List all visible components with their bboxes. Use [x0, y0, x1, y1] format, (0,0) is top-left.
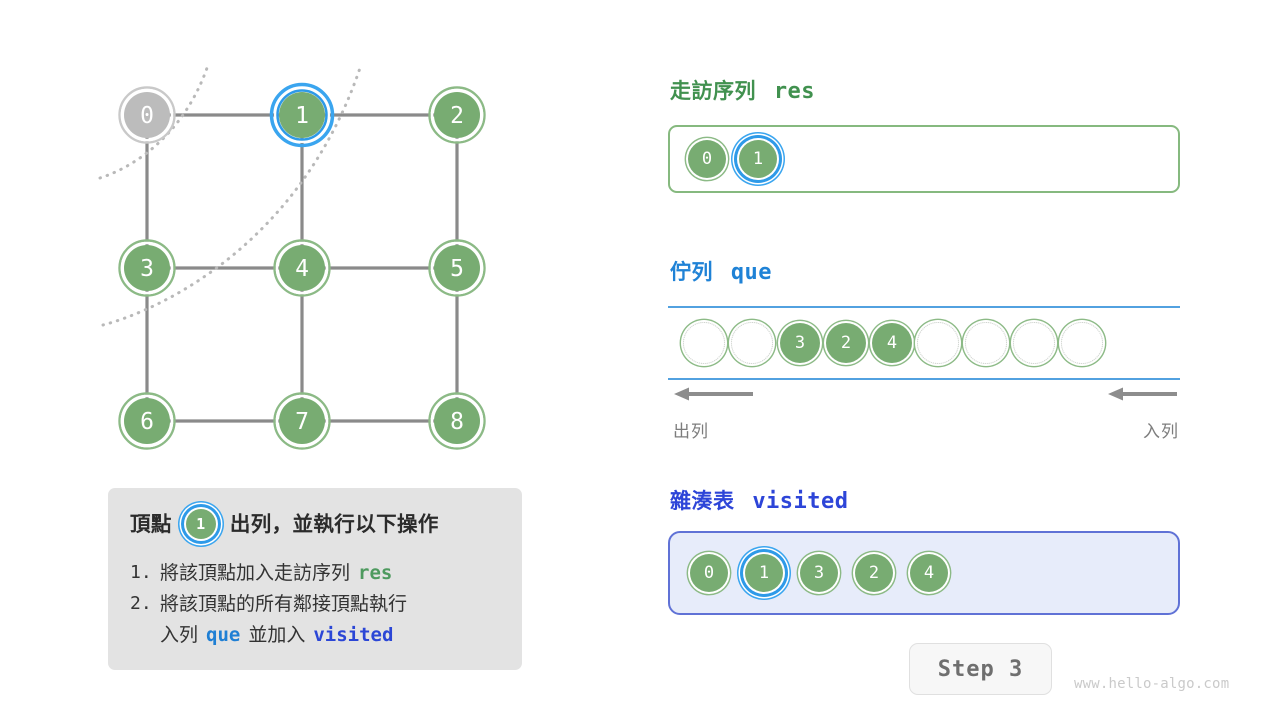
node-label: 5: [450, 256, 464, 282]
caption-head-prefix: 頂點: [130, 514, 172, 535]
step-badge: Step 3: [909, 643, 1052, 695]
caption-step-2-cont: 入列 que 並加入 visited: [130, 620, 502, 651]
res-item: 0: [684, 136, 730, 182]
caption-step-2-cont-mid: 並加入: [248, 620, 305, 651]
visited-title-code: visited: [752, 489, 848, 514]
value-chip: 4: [872, 323, 912, 363]
visited-item: 3: [796, 550, 842, 596]
caption-box: 頂點 1 出列，並執行以下操作 1. 將該頂點加入走訪序列 res 2. 將該頂…: [108, 488, 522, 670]
caption-step-1: 1. 將該頂點加入走訪序列 res: [130, 558, 502, 589]
queue-slot: 3: [777, 320, 823, 366]
graph-node-4[interactable]: 4: [275, 241, 330, 296]
caption-step-2-cont-before: 入列: [160, 620, 198, 651]
queue-slot: [1059, 320, 1105, 366]
node-label: 1: [295, 103, 309, 129]
graph-node-8[interactable]: 8: [430, 394, 485, 449]
caption-step-2: 2. 將該頂點的所有鄰接頂點執行: [130, 589, 502, 620]
enqueue-arrow-icon: [1107, 384, 1179, 404]
enqueue-label: 入列: [1107, 417, 1179, 442]
queue-direction-row: 出列 入列: [668, 384, 1180, 440]
graph-node-6[interactable]: 6: [120, 394, 175, 449]
caption-step-1-number: 1.: [130, 558, 160, 589]
queue-title-code: que: [731, 260, 772, 285]
empty-slot: [1013, 322, 1055, 364]
caption-step-2-number: 2.: [130, 589, 160, 620]
graph-node-layer: 012345678: [120, 85, 485, 449]
caption-heading: 頂點 1 出列，並執行以下操作: [130, 504, 502, 544]
empty-slot: [683, 322, 725, 364]
visited-item: 0: [686, 550, 732, 596]
res-item: 1: [735, 136, 781, 182]
caption-step-2-text: 將該頂點的所有鄰接頂點執行: [160, 589, 407, 620]
node-label: 8: [450, 409, 464, 435]
value-chip: 3: [780, 323, 820, 363]
visited-container: 01324: [668, 531, 1180, 615]
empty-slot: [1061, 322, 1103, 364]
graph-panel: 012345678: [0, 0, 620, 490]
queue-slot: 2: [823, 320, 869, 366]
node-label: 4: [295, 256, 309, 282]
queue-container: 324: [668, 306, 1180, 380]
value-chip: 3: [800, 554, 838, 592]
res-title-code: res: [774, 79, 815, 104]
res-container: 01: [668, 125, 1180, 193]
graph-node-0[interactable]: 0: [120, 88, 175, 143]
queue-slot: [915, 320, 961, 366]
caption-vertex-chip: 1: [181, 504, 221, 544]
visited-title-cn: 雜湊表: [670, 489, 735, 513]
caption-vertex-chip-label: 1: [186, 509, 216, 539]
visited-section-title: 雜湊表 visited: [670, 485, 849, 515]
queue-slot: [681, 320, 727, 366]
dequeue-label: 出列: [673, 417, 755, 442]
node-label: 6: [140, 409, 154, 435]
caption-step-2-code-que: que: [206, 620, 240, 651]
right-panel: 走訪序列 res 01 佇列 que 324 出列 入列 雜湊表 visited…: [666, 0, 1226, 720]
dequeue-arrow-icon: [673, 384, 755, 404]
caption-step-1-text: 將該頂點加入走訪序列: [160, 558, 350, 589]
caption-step-1-code: res: [358, 558, 392, 589]
graph-node-2[interactable]: 2: [430, 88, 485, 143]
node-label: 2: [450, 103, 464, 129]
graph-canvas: 012345678: [0, 0, 620, 490]
queue-slot: [729, 320, 775, 366]
node-label: 7: [295, 409, 309, 435]
visited-item: 1: [741, 550, 787, 596]
caption-head-suffix: 出列，並執行以下操作: [230, 514, 439, 535]
value-chip: 2: [855, 554, 893, 592]
res-title-cn: 走訪序列: [670, 79, 756, 103]
dequeue-group: 出列: [673, 384, 755, 442]
empty-slot: [917, 322, 959, 364]
empty-slot: [965, 322, 1007, 364]
caption-step-2-code-visited: visited: [313, 620, 393, 651]
enqueue-group: 入列: [1107, 384, 1179, 442]
value-chip: 0: [688, 140, 726, 178]
node-label: 3: [140, 256, 154, 282]
graph-node-3[interactable]: 3: [120, 241, 175, 296]
res-section-title: 走訪序列 res: [670, 75, 815, 105]
graph-node-7[interactable]: 7: [275, 394, 330, 449]
queue-slot: [963, 320, 1009, 366]
empty-slot: [731, 322, 773, 364]
queue-title-cn: 佇列: [670, 260, 713, 284]
node-label: 0: [140, 103, 154, 129]
value-chip: 1: [745, 554, 783, 592]
value-chip: 0: [690, 554, 728, 592]
queue-section-title: 佇列 que: [670, 256, 772, 286]
visited-item: 2: [851, 550, 897, 596]
queue-slot: 4: [869, 320, 915, 366]
value-chip: 2: [826, 323, 866, 363]
value-chip: 1: [739, 140, 777, 178]
queue-slot: [1011, 320, 1057, 366]
value-chip: 4: [910, 554, 948, 592]
graph-node-5[interactable]: 5: [430, 241, 485, 296]
visited-item: 4: [906, 550, 952, 596]
watermark: www.hello-algo.com: [1074, 676, 1229, 692]
graph-node-1[interactable]: 1: [272, 85, 333, 146]
